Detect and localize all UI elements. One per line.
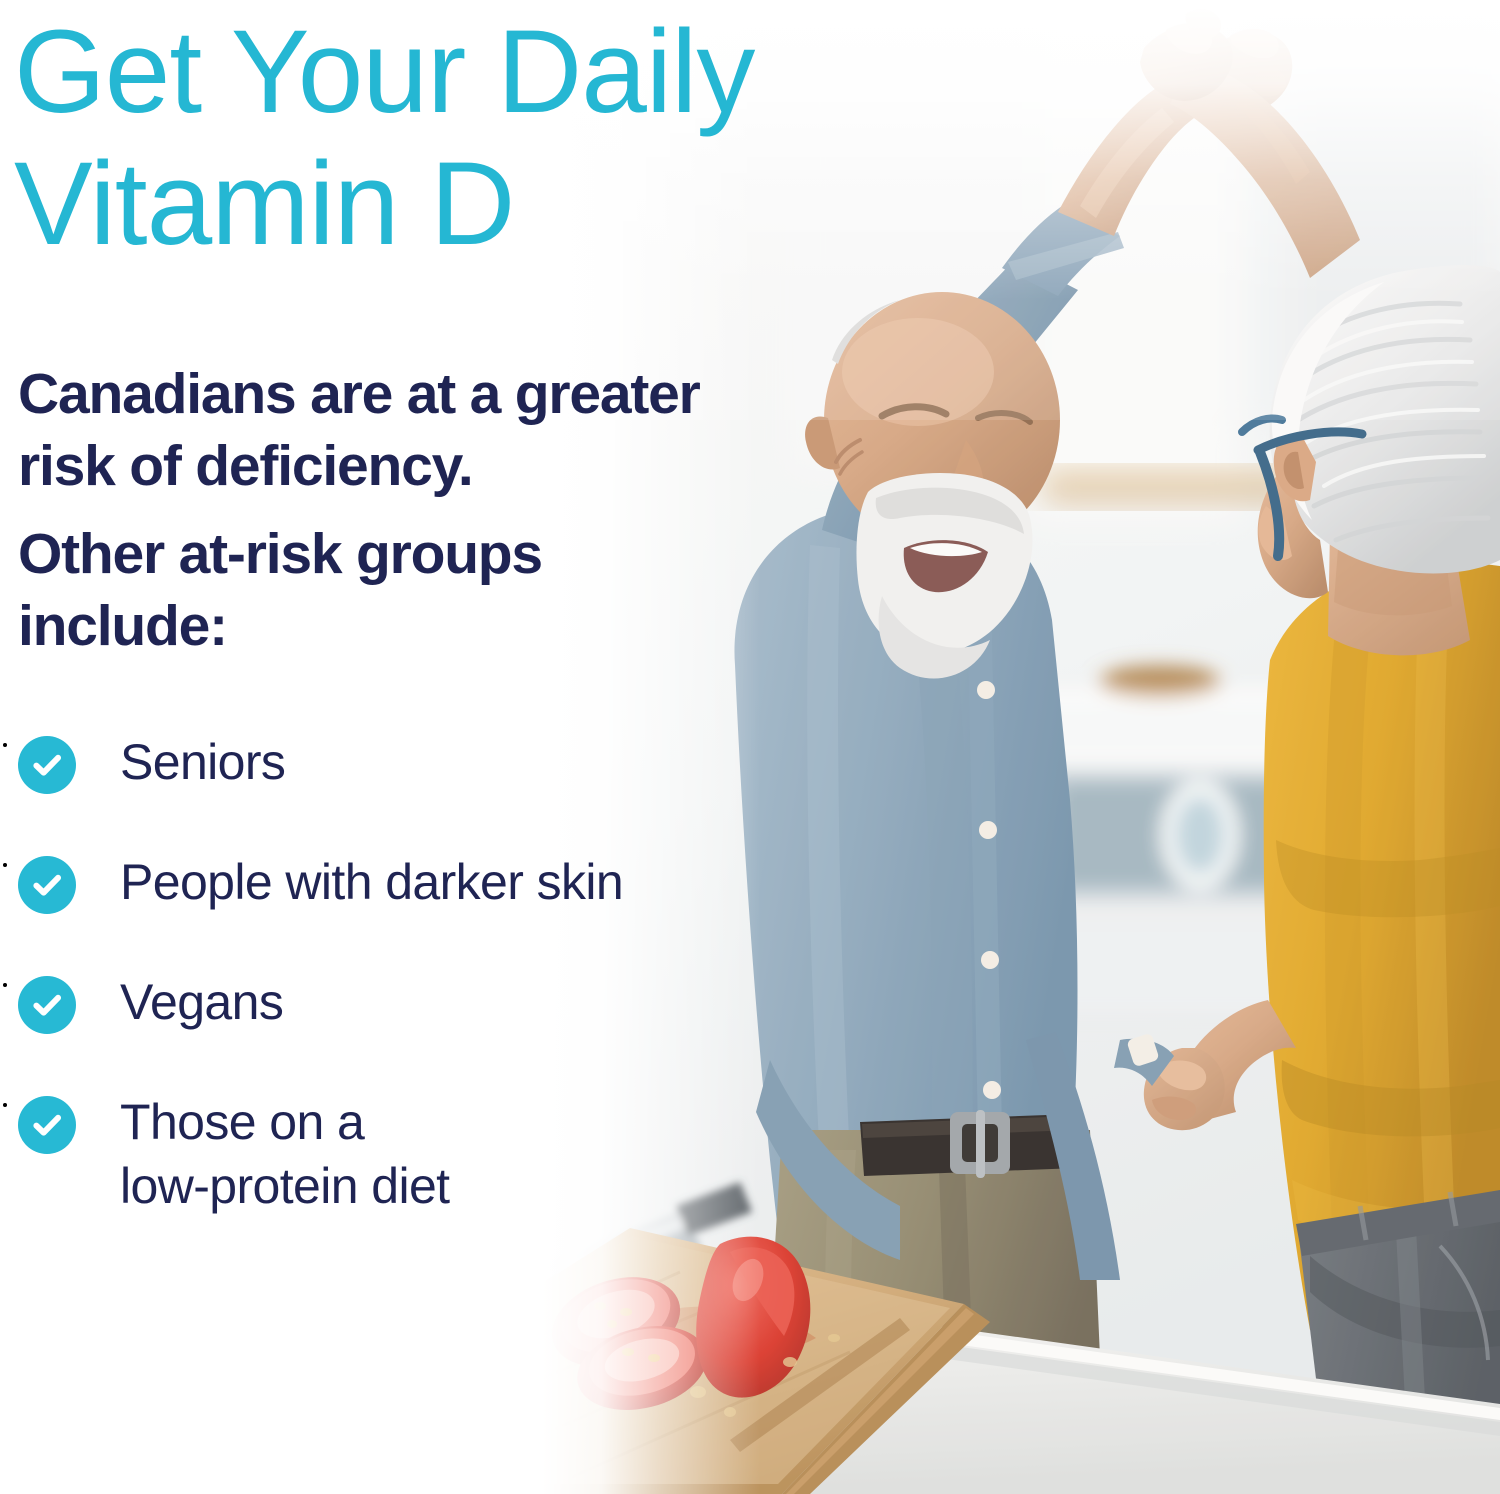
list-item: Seniors (18, 736, 778, 856)
check-circle-icon (18, 976, 76, 1034)
list-item-label: Seniors (120, 730, 760, 794)
check-circle-icon (18, 736, 76, 794)
list-item-label: People with darker skin (120, 850, 760, 914)
risk-statement-paragraph: Canadians are at a greater risk of defic… (18, 358, 848, 502)
list-item: Vegans (18, 976, 778, 1096)
at-risk-groups-list: Seniors People with darker skin Vegans (18, 736, 778, 1256)
infographic-canvas: Get Your Daily Vitamin D Canadians are a… (0, 0, 1500, 1494)
check-circle-icon (18, 856, 76, 914)
page-title: Get Your Daily Vitamin D (14, 6, 994, 270)
list-item-label: Vegans (120, 970, 760, 1034)
list-item: Those on a low-protein diet (18, 1096, 778, 1256)
at-risk-groups-heading: Other at-risk groups include: (18, 518, 848, 662)
list-item-label: Those on a low-protein diet (120, 1090, 760, 1218)
check-circle-icon (18, 1096, 76, 1154)
list-item: People with darker skin (18, 856, 778, 976)
